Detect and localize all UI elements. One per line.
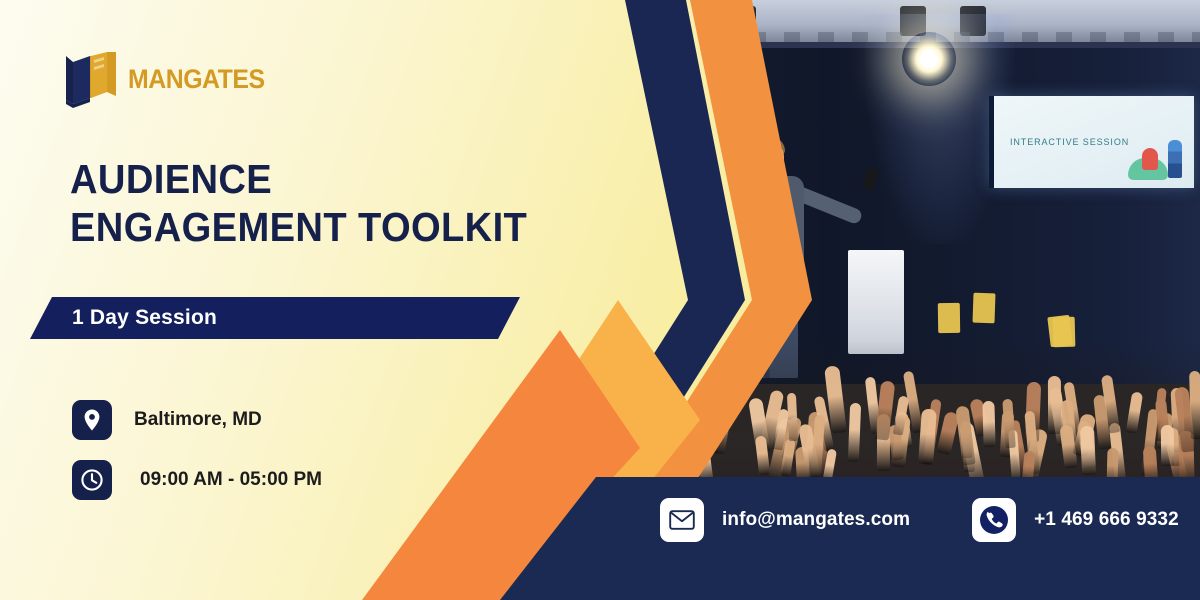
phone-icon: [972, 498, 1016, 542]
slide-illustration: [1126, 120, 1188, 182]
email-text: info@mangates.com: [722, 509, 910, 531]
location-pin-icon: [72, 400, 112, 440]
raised-hand: [695, 386, 712, 439]
presentation-screen-text: INTERACTIVE SESSION: [1010, 137, 1129, 147]
location-text: Baltimore, MD: [134, 409, 262, 431]
yellow-voting-card: [937, 303, 959, 333]
contact-bar: info@mangates.com +1 469 666 9332: [660, 492, 1200, 548]
session-ribbon: 1 Day Session: [30, 297, 520, 339]
session-label: 1 Day Session: [72, 306, 217, 330]
email-contact[interactable]: info@mangates.com: [660, 498, 910, 542]
event-banner: INTERACTIVE SESSION: [0, 0, 1200, 600]
stage-light-icon: [648, 28, 702, 82]
stage-light-icon: [902, 32, 956, 86]
raised-hand: [983, 401, 996, 448]
time-text: 09:00 AM - 05:00 PM: [140, 469, 322, 491]
yellow-voting-card: [764, 301, 787, 332]
brand-name: MANGATES: [128, 64, 265, 95]
raised-hand: [848, 402, 862, 461]
mangates-logo[interactable]: MANGATES: [60, 48, 290, 110]
time-row: 09:00 AM - 05:00 PM: [72, 460, 322, 500]
raised-hand: [711, 389, 736, 454]
raised-hand: [1080, 426, 1096, 476]
yellow-voting-card: [1052, 317, 1075, 348]
clock-icon: [72, 460, 112, 500]
presentation-screen: INTERACTIVE SESSION: [989, 96, 1194, 188]
yellow-voting-card: [973, 292, 996, 323]
page-title: AUDIENCE ENGAGEMENT TOOLKIT: [70, 155, 554, 252]
phone-text: +1 469 666 9332: [1034, 509, 1179, 531]
raised-hand: [1189, 371, 1200, 439]
envelope-icon: [660, 498, 704, 542]
raised-hand: [1126, 391, 1143, 433]
location-row: Baltimore, MD: [72, 400, 262, 440]
raised-hand: [918, 408, 937, 464]
phone-contact[interactable]: +1 469 666 9332: [972, 498, 1179, 542]
raised-hand: [1048, 376, 1061, 434]
open-book-logo-icon: [60, 50, 122, 108]
raised-hand: [787, 393, 798, 441]
raised-hand: [1161, 425, 1175, 466]
